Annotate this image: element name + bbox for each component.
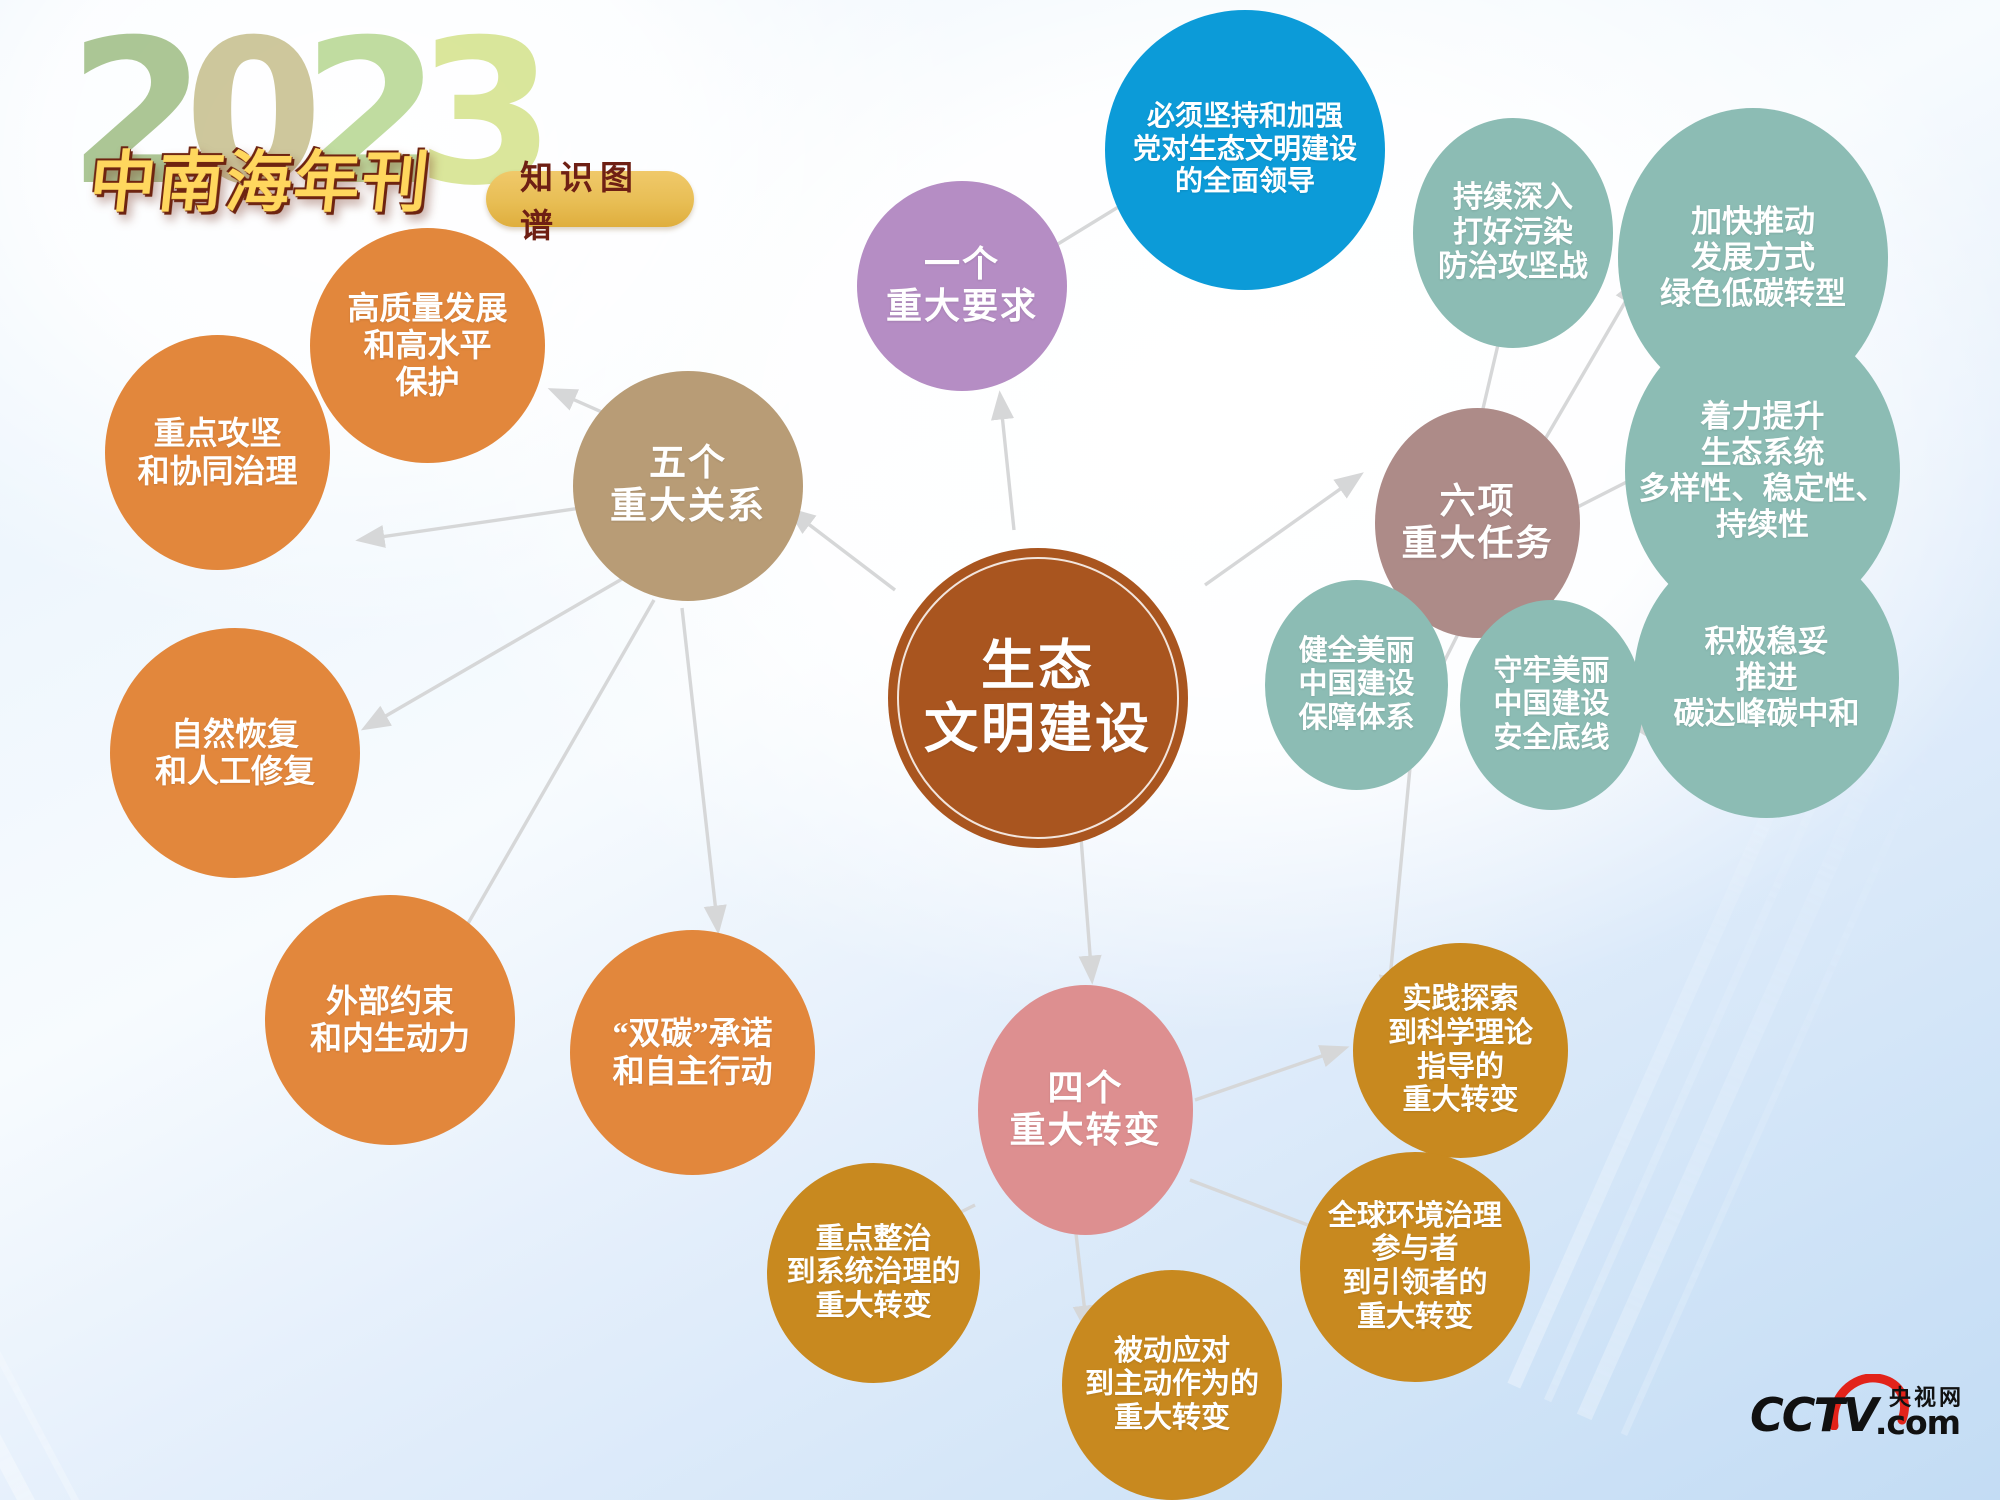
- node-label: 全球环境治理 参与者 到引领者的 重大转变: [1322, 1200, 1508, 1335]
- infographic-canvas: 2 0 2 3 中南海年刊 知识图谱: [0, 0, 2000, 1500]
- node-leaf-beautiful-china-safety-line[interactable]: 守牢美丽 中国建设 安全底线: [1460, 600, 1643, 810]
- node-label: “双碳”承诺 和自主行动: [606, 1015, 778, 1089]
- node-label: 被动应对 到主动作为的 重大转变: [1079, 1335, 1265, 1436]
- node-leaf-party-leadership[interactable]: 必须坚持和加强 党对生态文明建设 的全面领导: [1105, 10, 1385, 290]
- node-leaf-dual-carbon-commitment[interactable]: “双碳”承诺 和自主行动: [570, 930, 815, 1175]
- node-leaf-external-constraint[interactable]: 外部约束 和内生动力: [265, 895, 515, 1145]
- node-label: 重点整治 到系统治理的 重大转变: [780, 1223, 966, 1324]
- cctv-domain-text: .com: [1875, 1406, 1960, 1439]
- node-leaf-participant-to-leader[interactable]: 全球环境治理 参与者 到引领者的 重大转变: [1300, 1152, 1530, 1382]
- node-hub-one-requirement[interactable]: 一个 重大要求: [857, 181, 1067, 391]
- node-label: 生态 文明建设: [918, 635, 1158, 760]
- node-leaf-high-quality-development[interactable]: 高质量发展 和高水平 保护: [310, 228, 545, 463]
- node-leaf-carbon-peak-neutrality[interactable]: 积极稳妥 推进 碳达峰碳中和: [1634, 538, 1899, 818]
- node-label: 健全美丽 中国建设 保障体系: [1292, 635, 1420, 736]
- cctv-brand-text: CCTV: [1750, 1392, 1877, 1438]
- node-leaf-key-to-systemic-governance[interactable]: 重点整治 到系统治理的 重大转变: [767, 1163, 980, 1383]
- node-leaf-natural-restoration[interactable]: 自然恢复 和人工修复: [110, 628, 360, 878]
- node-label: 六项 重大任务: [1395, 481, 1559, 565]
- node-label: 自然恢复 和人工修复: [149, 716, 321, 790]
- node-leaf-practice-to-theory[interactable]: 实践探索 到科学理论 指导的 重大转变: [1353, 943, 1568, 1158]
- node-leaf-beautiful-china-safeguard[interactable]: 健全美丽 中国建设 保障体系: [1265, 580, 1448, 790]
- node-leaf-passive-to-active[interactable]: 被动应对 到主动作为的 重大转变: [1062, 1270, 1282, 1500]
- node-label: 必须坚持和加强 党对生态文明建设 的全面领导: [1127, 101, 1363, 198]
- node-hub-five-relations[interactable]: 五个 重大关系: [573, 371, 803, 601]
- node-leaf-pollution-prevention[interactable]: 持续深入 打好污染 防治攻坚战: [1413, 118, 1613, 348]
- node-leaf-key-breakthrough[interactable]: 重点攻坚 和协同治理: [105, 335, 330, 570]
- node-label: 实践探索 到科学理论 指导的 重大转变: [1382, 983, 1539, 1118]
- node-label: 持续深入 打好污染 防治攻坚战: [1432, 181, 1594, 285]
- node-center-ecological-civilization[interactable]: 生态 文明建设: [888, 548, 1188, 848]
- node-label: 积极稳妥 推进 碳达峰碳中和: [1668, 624, 1866, 732]
- node-label: 一个 重大要求: [880, 244, 1044, 328]
- node-label: 重点攻坚 和协同治理: [131, 415, 303, 489]
- node-hub-four-transformations[interactable]: 四个 重大转变: [978, 985, 1193, 1235]
- node-label: 五个 重大关系: [604, 443, 772, 529]
- node-label: 加快推动 发展方式 绿色低碳转型: [1654, 204, 1852, 312]
- node-label: 高质量发展 和高水平 保护: [341, 290, 513, 401]
- node-label: 着力提升 生态系统 多样性、稳定性、 持续性: [1633, 399, 1893, 543]
- node-label: 外部约束 和内生动力: [304, 983, 476, 1057]
- node-label: 四个 重大转变: [1003, 1068, 1167, 1152]
- cctv-watermark: CCTV 央视网 .com: [1750, 1376, 1966, 1442]
- node-label: 守牢美丽 中国建设 安全底线: [1487, 655, 1615, 756]
